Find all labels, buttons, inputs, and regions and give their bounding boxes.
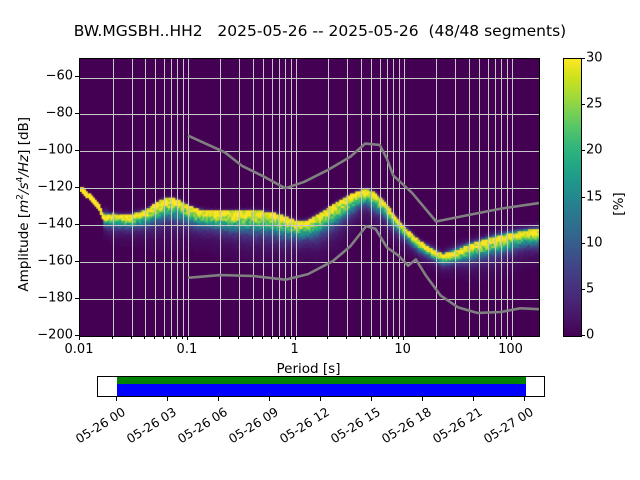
y-axis-label-text: Amplitude [m2/s4/Hz] [dB] [15,117,31,292]
y-tick-mark [75,261,79,262]
x-tick-mark-minor [144,336,145,339]
time-coverage-bar[interactable] [97,376,545,397]
x-tick-mark-minor [435,336,436,339]
y-tick-mark [75,224,79,225]
colorbar-tick-label: 5 [586,281,594,296]
noise-model-curves [80,59,539,336]
colorbar-tick-label: 10 [586,235,603,250]
x-axis-label: Period [s] [79,361,538,377]
colorbar-tick-mark [581,150,585,151]
ppsd-plot-area[interactable] [79,58,540,337]
x-tick-label: 1 [265,342,325,357]
colorbar-tick-mark [581,289,585,290]
x-tick-mark-minor [468,336,469,339]
x-tick-mark-minor [112,336,113,339]
x-tick-mark-minor [454,336,455,339]
time-tick-mark [320,397,321,401]
x-tick-mark-minor [154,336,155,339]
x-tick-mark-minor [163,336,164,339]
x-tick-mark-minor [386,336,387,339]
colorbar-label: [%] [611,174,627,234]
x-tick-mark-minor [284,336,285,339]
x-tick-mark-minor [494,336,495,339]
colorbar-tick-mark [581,104,585,105]
page-title: BW.MGSBH..HH2 2025-05-26 -- 2025-05-26 (… [0,22,640,40]
nlnm-curve [188,226,539,313]
x-tick-mark-major [295,336,296,340]
y-tick-mark [75,76,79,77]
y-tick-mark [75,150,79,151]
x-tick-mark-minor [278,336,279,339]
y-tick-mark [75,113,79,114]
colorbar-tick-mark [581,335,585,336]
x-tick-mark-minor [219,336,220,339]
y-tick-mark [75,298,79,299]
x-tick-mark-minor [290,336,291,339]
x-tick-mark-minor [392,336,393,339]
y-axis-label: Amplitude [m2/s4/Hz] [dB] [15,64,32,344]
x-tick-label: 0.1 [157,342,217,357]
time-tick-mark [116,397,117,401]
nhnm-curve [188,136,539,222]
y-tick-mark [75,187,79,188]
time-tick-mark [371,397,372,401]
x-tick-mark-minor [262,336,263,339]
x-tick-mark-minor [271,336,272,339]
x-tick-mark-minor [478,336,479,339]
x-tick-mark-major [511,336,512,340]
time-tick-mark [422,397,423,401]
colorbar-tick-mark [581,197,585,198]
x-tick-mark-minor [170,336,171,339]
colorbar-tick-label: 15 [586,189,603,204]
colorbar-tick-mark [581,58,585,59]
colorbar-tick-label: 30 [586,51,603,66]
colorbar[interactable] [563,58,582,337]
x-tick-mark-major [403,336,404,340]
time-tick-mark [524,397,525,401]
x-tick-mark-minor [131,336,132,339]
colorbar-tick-mark [581,243,585,244]
colorbar-tick-label: 25 [586,97,603,112]
x-tick-mark-minor [506,336,507,339]
x-tick-mark-minor [398,336,399,339]
x-tick-label: 100 [481,342,541,357]
x-tick-label: 10 [373,342,433,357]
coverage-data-band [117,384,526,396]
x-tick-mark-minor [370,336,371,339]
x-tick-mark-minor [327,336,328,339]
x-tick-mark-minor [182,336,183,339]
coverage-segments-band [117,377,526,384]
x-tick-mark-minor [252,336,253,339]
x-tick-mark-minor [360,336,361,339]
x-tick-mark-minor [238,336,239,339]
time-tick-mark [269,397,270,401]
x-tick-mark-minor [500,336,501,339]
x-tick-label: 0.01 [49,342,109,357]
x-tick-mark-minor [176,336,177,339]
x-tick-mark-minor [346,336,347,339]
colorbar-tick-label: 20 [586,143,603,158]
x-tick-mark-major [79,336,80,340]
x-tick-mark-major [187,336,188,340]
time-tick-mark [218,397,219,401]
time-tick-mark [473,397,474,401]
x-tick-mark-minor [487,336,488,339]
ppsd-figure: BW.MGSBH..HH2 2025-05-26 -- 2025-05-26 (… [0,0,640,480]
x-tick-mark-minor [379,336,380,339]
colorbar-tick-label: 0 [586,328,594,343]
time-tick-mark [167,397,168,401]
